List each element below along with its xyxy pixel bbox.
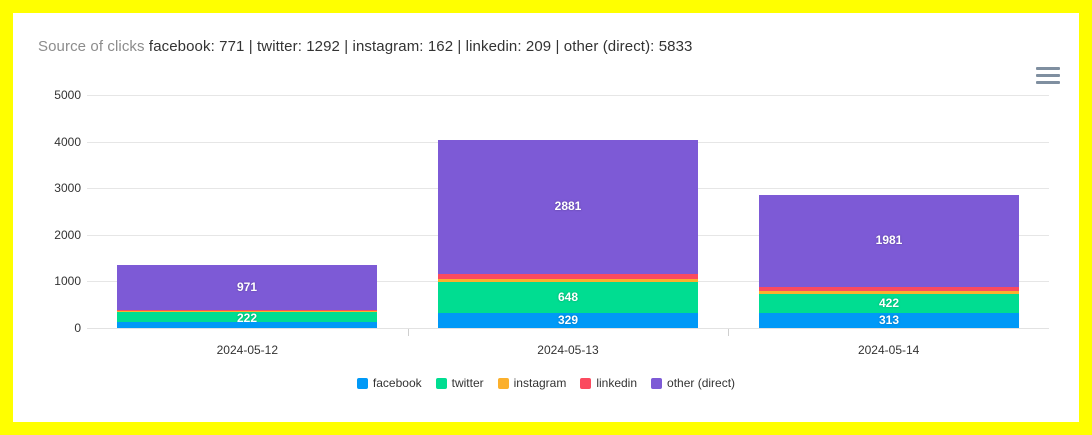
- bar-group[interactable]: 3134221981: [759, 195, 1019, 328]
- bar-segment-other-direct-[interactable]: 971: [117, 265, 377, 310]
- legend-label: facebook: [373, 376, 422, 390]
- bar-segment-instagram[interactable]: [438, 279, 698, 283]
- plot-area: 0100020003000400050002229712024-05-12329…: [13, 13, 1079, 422]
- legend-swatch-icon: [357, 378, 368, 389]
- legend-swatch-icon: [498, 378, 509, 389]
- legend-swatch-icon: [580, 378, 591, 389]
- x-axis-tick-label: 2024-05-14: [809, 343, 969, 357]
- bar-value-label: 2881: [438, 200, 698, 213]
- bar-value-label: 222: [117, 312, 377, 322]
- bar-value-label: 422: [759, 297, 1019, 310]
- bar-segment-other-direct-[interactable]: 1981: [759, 195, 1019, 287]
- bar-segment-instagram[interactable]: [117, 311, 377, 312]
- x-axis-tick-mark: [408, 329, 409, 336]
- bar-segment-linkedin[interactable]: [117, 310, 377, 311]
- y-axis-tick-label: 2000: [31, 229, 81, 241]
- bar-segment-twitter[interactable]: 648: [438, 282, 698, 312]
- legend-label: twitter: [452, 376, 484, 390]
- y-axis-tick-label: 0: [31, 322, 81, 334]
- legend-item-linkedin[interactable]: linkedin: [580, 376, 637, 390]
- bar-segment-instagram[interactable]: [759, 291, 1019, 294]
- x-axis-tick-label: 2024-05-12: [167, 343, 327, 357]
- legend-item-facebook[interactable]: facebook: [357, 376, 422, 390]
- y-axis-tick-label: 3000: [31, 182, 81, 194]
- chart-card: Source of clicks facebook: 771 | twitter…: [13, 13, 1079, 422]
- legend-label: linkedin: [596, 376, 637, 390]
- bar-group[interactable]: 3296482881: [438, 140, 698, 328]
- chart-legend: facebooktwitterinstagramlinkedinother (d…: [13, 376, 1079, 390]
- bar-segment-other-direct-[interactable]: 2881: [438, 140, 698, 274]
- y-axis-tick-label: 4000: [31, 136, 81, 148]
- bar-group[interactable]: 222971: [117, 265, 377, 328]
- x-axis-tick-label: 2024-05-13: [488, 343, 648, 357]
- bar-segment-twitter[interactable]: 222: [117, 312, 377, 322]
- bar-value-label: 648: [438, 291, 698, 304]
- bar-value-label: 313: [759, 314, 1019, 327]
- legend-item-twitter[interactable]: twitter: [436, 376, 484, 390]
- bar-value-label: 329: [438, 314, 698, 327]
- bar-segment-twitter[interactable]: 422: [759, 294, 1019, 314]
- bar-segment-facebook[interactable]: [117, 322, 377, 328]
- x-axis-tick-mark: [728, 329, 729, 336]
- legend-label: other (direct): [667, 376, 735, 390]
- legend-label: instagram: [514, 376, 567, 390]
- chart-frame: Source of clicks facebook: 771 | twitter…: [0, 0, 1092, 435]
- legend-swatch-icon: [651, 378, 662, 389]
- bar-value-label: 971: [117, 281, 377, 294]
- gridline-5000: [87, 95, 1049, 96]
- y-axis-tick-label: 5000: [31, 89, 81, 101]
- y-axis-tick-label: 1000: [31, 275, 81, 287]
- bar-segment-facebook[interactable]: 313: [759, 313, 1019, 328]
- bar-segment-linkedin[interactable]: [759, 287, 1019, 291]
- legend-swatch-icon: [436, 378, 447, 389]
- legend-item-other-direct-[interactable]: other (direct): [651, 376, 735, 390]
- bar-segment-facebook[interactable]: 329: [438, 313, 698, 328]
- legend-item-instagram[interactable]: instagram: [498, 376, 567, 390]
- bar-value-label: 1981: [759, 234, 1019, 247]
- gridline-0: [87, 328, 1049, 329]
- bar-segment-linkedin[interactable]: [438, 274, 698, 279]
